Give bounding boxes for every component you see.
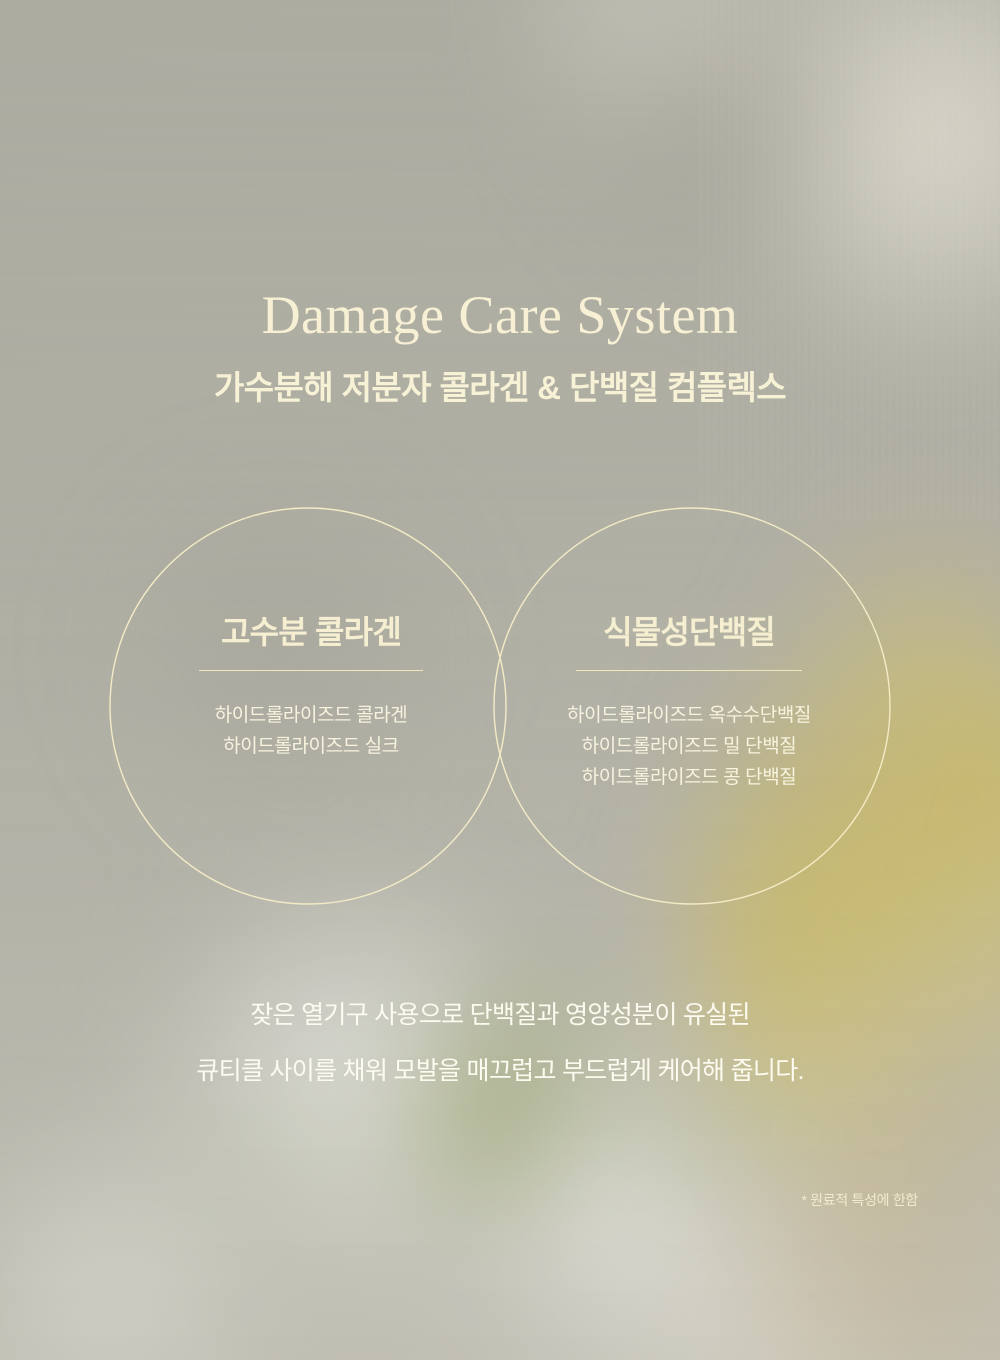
venn-left-ingredient-list: 하이드롤라이즈드 콜라겐 하이드롤라이즈드 실크 (150, 701, 472, 763)
summary-block: 잦은 열기구 사용으로 단백질과 영양성분이 유실된 큐티클 사이를 채워 모발… (0, 1000, 1000, 1086)
content-layer: Damage Care System 가수분해 저분자 콜라겐 & 단백질 컴플… (0, 0, 1000, 1360)
summary-line-1: 잦은 열기구 사용으로 단백질과 영양성분이 유실된 (0, 1000, 1000, 1030)
venn-right-ingredient-list: 하이드롤라이즈드 옥수수단백질 하이드롤라이즈드 밀 단백질 하이드롤라이즈드 … (528, 701, 850, 793)
list-item: 하이드롤라이즈드 콜라겐 (150, 701, 472, 732)
venn-right-content: 식물성단백질 하이드롤라이즈드 옥수수단백질 하이드롤라이즈드 밀 단백질 하이… (528, 612, 850, 793)
venn-left-divider (199, 670, 423, 671)
venn-right-divider (576, 670, 802, 671)
list-item: 하이드롤라이즈드 실크 (150, 732, 472, 763)
venn-left-heading: 고수분 콜라겐 (150, 612, 472, 652)
venn-right-heading: 식물성단백질 (528, 612, 850, 652)
footnote: * 원료적 특성에 한함 (801, 1190, 918, 1210)
summary-line-2: 큐티클 사이를 채워 모발을 매끄럽고 부드럽게 케어해 줍니다. (0, 1056, 1000, 1086)
list-item: 하이드롤라이즈드 밀 단백질 (528, 732, 850, 763)
list-item: 하이드롤라이즈드 콩 단백질 (528, 763, 850, 794)
venn-left-content: 고수분 콜라겐 하이드롤라이즈드 콜라겐 하이드롤라이즈드 실크 (150, 612, 472, 763)
promo-page: Damage Care System 가수분해 저분자 콜라겐 & 단백질 컴플… (0, 0, 1000, 1360)
list-item: 하이드롤라이즈드 옥수수단백질 (528, 701, 850, 732)
